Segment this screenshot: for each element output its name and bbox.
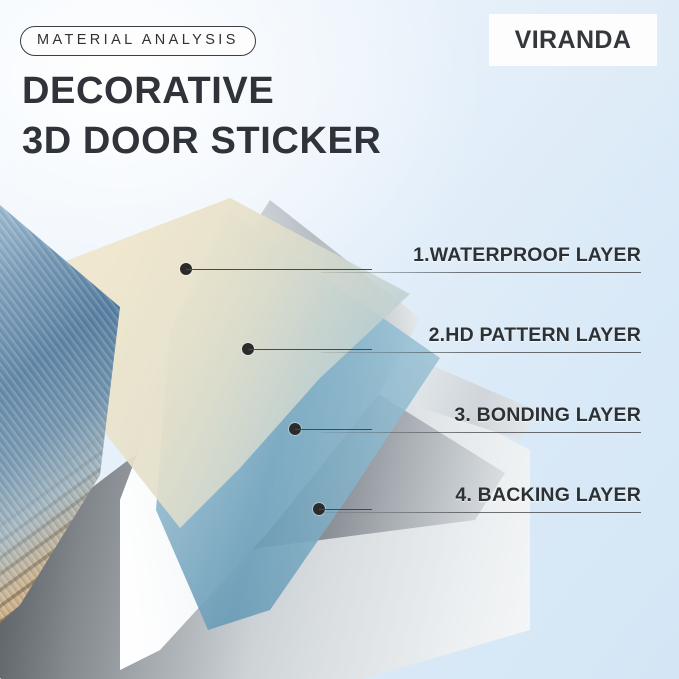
infographic-canvas: 1.WATERPROOF LAYER2.HD PATTERN LAYER3. B… bbox=[0, 0, 679, 679]
callout-underline-backing bbox=[321, 512, 641, 513]
material-analysis-badge: MATERIAL ANALYSIS bbox=[20, 26, 256, 56]
callout-underline-bonding bbox=[321, 432, 641, 433]
callout-leader-bonding bbox=[295, 429, 372, 430]
callout-leader-waterproof bbox=[186, 269, 372, 270]
callout-label-hd-pattern: 2.HD PATTERN LAYER bbox=[429, 324, 641, 347]
brand-logo-panel: VIRANDA bbox=[489, 14, 657, 66]
callout-leader-hd-pattern bbox=[248, 349, 372, 350]
callout-label-bonding: 3. BONDING LAYER bbox=[454, 404, 641, 427]
brand-name: VIRANDA bbox=[515, 26, 632, 55]
callout-underline-hd-pattern bbox=[321, 352, 641, 353]
page-title-line-1: DECORATIVE bbox=[22, 72, 274, 110]
page-title-line-2: 3D DOOR STICKER bbox=[22, 122, 381, 160]
callout-underline-waterproof bbox=[321, 272, 641, 273]
callout-label-backing: 4. BACKING LAYER bbox=[455, 484, 641, 507]
callout-label-waterproof: 1.WATERPROOF LAYER bbox=[413, 244, 641, 267]
callout-leader-backing bbox=[319, 509, 372, 510]
